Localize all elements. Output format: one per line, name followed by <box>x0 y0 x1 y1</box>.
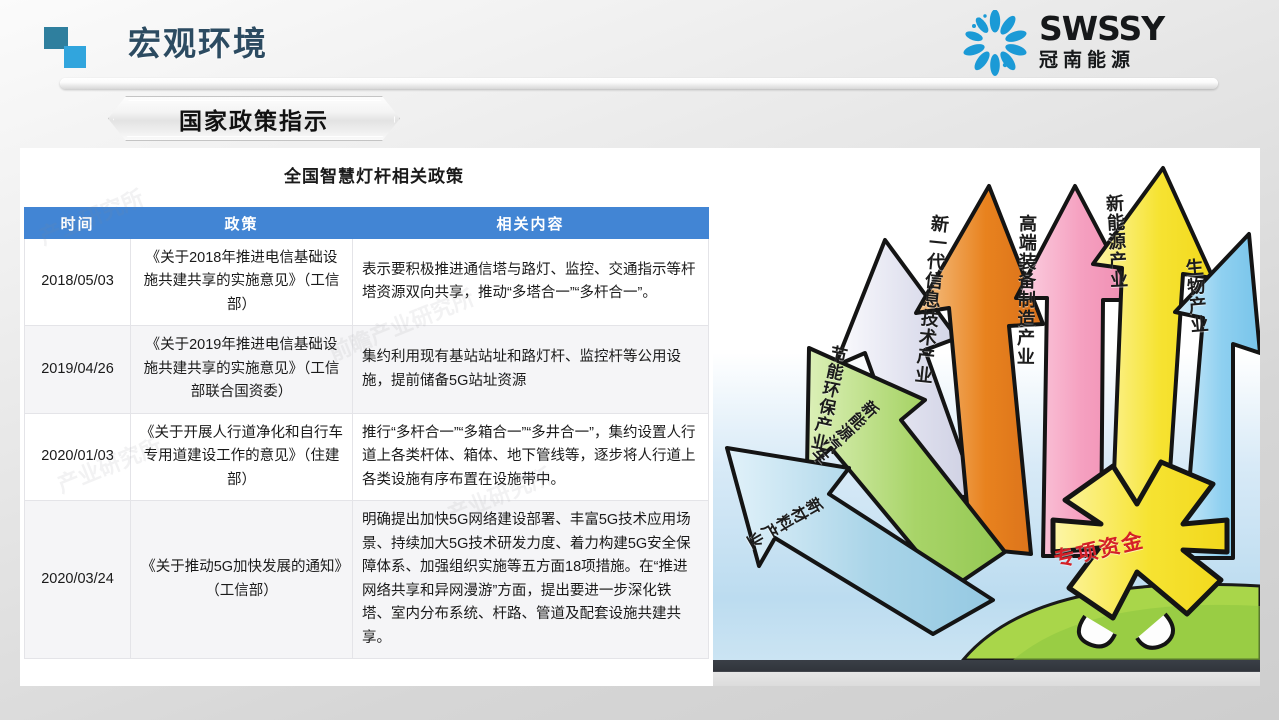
cell-date: 2020/01/03 <box>25 413 131 500</box>
brand-logo: SWSSY 冠南能源 <box>961 8 1231 78</box>
cell-date: 2020/03/24 <box>25 501 131 659</box>
cell-date: 2019/04/26 <box>25 326 131 413</box>
section-banner-label: 国家政策指示 <box>179 102 329 136</box>
cell-content: 表示要积极推进通信塔与路灯、监控、交通指示等杆塔资源双向共享，推动“多塔合一”“… <box>353 239 709 326</box>
table-row: 2019/04/26 《关于2019年推进电信基础设施共建共享的实施意见》（工信… <box>25 326 709 413</box>
page-header: 宏观环境 <box>0 0 1279 92</box>
cell-policy: 《关于2018年推进电信基础设施共建共享的实施意见》（工信部） <box>131 239 353 326</box>
illustration-canvas <box>713 148 1260 660</box>
table-title: 全国智慧灯杆相关政策 <box>24 162 724 187</box>
square-light-icon <box>64 46 86 68</box>
section-banner: 国家政策指示 <box>108 96 400 141</box>
illustration-rising-arrows: 节能环保产业 新一代信息技术产业 高端装备制造产业 新能源产业 生物产业 新能源… <box>713 148 1260 686</box>
cell-date: 2018/05/03 <box>25 239 131 326</box>
arrow-label-new-energy: 新能源产业 <box>1101 193 1132 289</box>
cell-content: 推行“多杆合一”“多箱合一”“多井合一”，集约设置人行道上各类杆体、箱体、地下管… <box>353 413 709 500</box>
logo-brand-name: SWSSY <box>1039 12 1164 46</box>
table-header-row: 时间 政策 相关内容 <box>25 208 709 239</box>
header-squares-icon <box>44 27 90 69</box>
arrow-label-high-end-equipment: 高端装备制造产业 <box>1012 214 1041 366</box>
column-header-date: 时间 <box>25 208 131 239</box>
column-header-policy: 政策 <box>131 208 353 239</box>
content-panel: 全国智慧灯杆相关政策 产业研究所 前瞻产业研究所 产业研究所 产业研究所 时间 … <box>20 148 1260 686</box>
column-header-content: 相关内容 <box>353 208 709 239</box>
table-row: 2020/03/24 《关于推动5G加快发展的通知》（工信部） 明确提出加快5G… <box>25 501 709 659</box>
water-droplet-circle-logo-icon <box>961 10 1029 76</box>
cell-content: 明确提出加快5G网络建设部署、丰富5G技术应用场景、持续加大5G技术研发力度、着… <box>353 501 709 659</box>
policy-table: 时间 政策 相关内容 2018/05/03 《关于2018年推进电信基础设施共建… <box>24 207 709 659</box>
page-title: 宏观环境 <box>128 20 268 68</box>
header-divider <box>60 78 1218 89</box>
logo-text: SWSSY 冠南能源 <box>1039 12 1164 74</box>
logo-brand-sub: 冠南能源 <box>1039 48 1164 74</box>
policy-table-block: 全国智慧灯杆相关政策 产业研究所 前瞻产业研究所 产业研究所 产业研究所 时间 … <box>24 148 724 686</box>
cell-policy: 《关于推动5G加快发展的通知》（工信部） <box>131 501 353 659</box>
table-row: 2020/01/03 《关于开展人行道净化和自行车专用道建设工作的意见》（住建部… <box>25 413 709 500</box>
illustration-bottom-bar <box>713 660 1260 686</box>
cell-policy: 《关于开展人行道净化和自行车专用道建设工作的意见》（住建部） <box>131 413 353 500</box>
cell-content: 集约利用现有基站站址和路灯杆、监控杆等公用设施，提前储备5G站址资源 <box>353 326 709 413</box>
cell-policy: 《关于2019年推进电信基础设施共建共享的实施意见》（工信部联合国资委） <box>131 326 353 413</box>
table-row: 2018/05/03 《关于2018年推进电信基础设施共建共享的实施意见》（工信… <box>25 239 709 326</box>
